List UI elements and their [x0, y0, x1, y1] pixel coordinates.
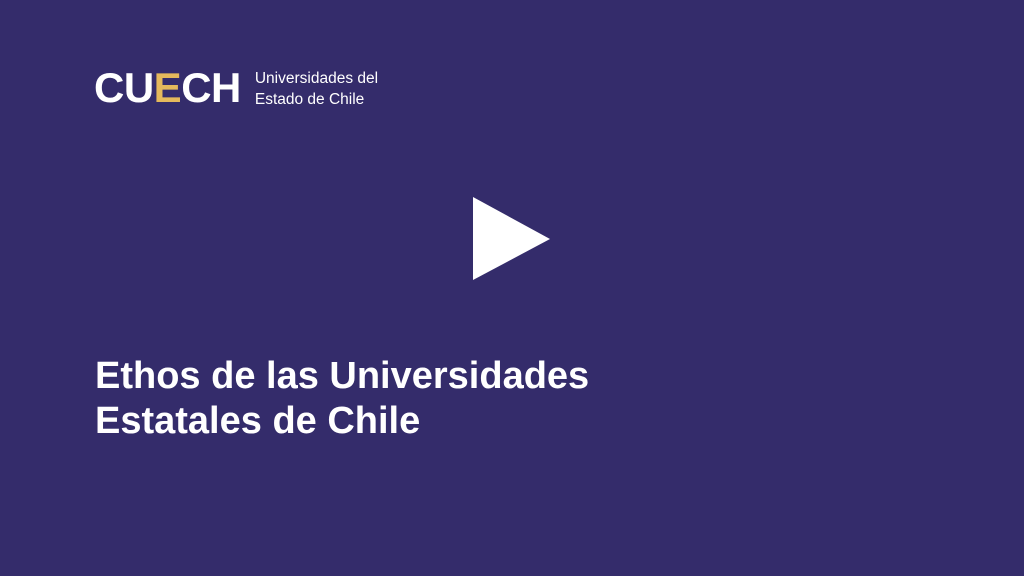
slide-title: Ethos de las Universidades Estatales de …: [95, 354, 715, 444]
logo-tagline-line-1: Universidades del: [255, 68, 378, 89]
cuech-wordmark: CUECH: [94, 67, 241, 109]
logo-tagline: Universidades del Estado de Chile: [255, 68, 378, 110]
wordmark-segment-e-accent: E: [154, 67, 182, 109]
wordmark-segment-cu: CU: [94, 67, 154, 109]
play-button[interactable]: [473, 197, 551, 281]
logo-tagline-line-2: Estado de Chile: [255, 89, 378, 110]
cuech-logo: CUECH Universidades del Estado de Chile: [94, 66, 378, 110]
play-triangle-icon: [473, 197, 551, 281]
wordmark-segment-ch: CH: [181, 67, 241, 109]
video-slide: CUECH Universidades del Estado de Chile …: [0, 0, 1024, 576]
